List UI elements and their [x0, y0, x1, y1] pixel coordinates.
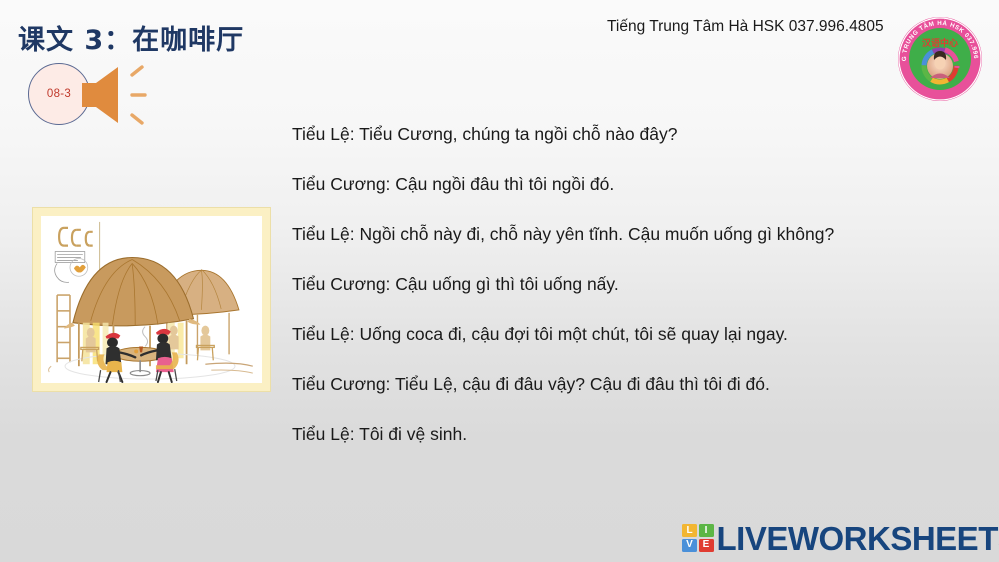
- liveworksheets-wordmark: LIVEWORKSHEETS: [717, 522, 999, 555]
- liveworksheets-tiles: L I V E: [682, 524, 714, 552]
- brand-badge-icon: TIẾNG TRUNG TÂM HÀ HSK 037.996.4805 汉语中心: [897, 16, 983, 102]
- speaker-icon[interactable]: [80, 65, 158, 125]
- page-title: 课文 3：在咖啡厅: [18, 18, 244, 57]
- lws-tile-l: L: [682, 524, 697, 537]
- dialogue-line: Tiểu Cương: Tiểu Lệ, cậu đi đâu vậy? Cậu…: [292, 360, 982, 410]
- dialogue-line: Tiểu Cương: Cậu uống gì thì tôi uống nấy…: [292, 260, 982, 310]
- slide-canvas: 课文 3：在咖啡厅 Tiếng Trung Tâm Hà HSK 037.996…: [0, 0, 999, 562]
- audio-track-label: 08-3: [47, 88, 71, 100]
- dialogue-line: Tiểu Lệ: Ngồi chỗ này đi, chỗ này yên tĩ…: [292, 210, 982, 260]
- dialogue-line: Tiểu Lệ: Tôi đi vệ sinh.: [292, 410, 982, 460]
- liveworksheets-logo: L I V E LIVEWORKSHEETS: [682, 521, 999, 555]
- cafe-scene-illustration: [41, 216, 262, 383]
- dialogue-line: Tiểu Lệ: Tiểu Cương, chúng ta ngồi chỗ n…: [292, 110, 982, 160]
- center-name-text: Tiếng Trung Tâm Hà HSK 037.996.4805: [607, 18, 884, 36]
- svg-text:汉语中心: 汉语中心: [922, 37, 958, 49]
- audio-play-control[interactable]: 08-3: [28, 60, 158, 130]
- lws-tile-i: I: [699, 524, 714, 537]
- illustration-frame: [32, 207, 271, 392]
- dialogue-line: Tiểu Cương: Cậu ngồi đâu thì tôi ngồi đó…: [292, 160, 982, 210]
- dialogue-list: Tiểu Lệ: Tiểu Cương, chúng ta ngồi chỗ n…: [292, 110, 982, 460]
- lws-tile-e: E: [699, 539, 714, 552]
- lws-tile-v: V: [682, 539, 697, 552]
- dialogue-line: Tiểu Lệ: Uống coca đi, cậu đợi tôi một c…: [292, 310, 982, 360]
